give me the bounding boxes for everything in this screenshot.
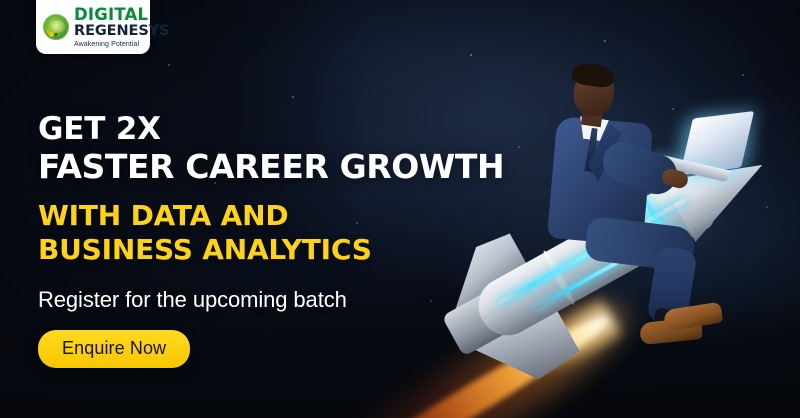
tree-emblem-icon <box>43 14 69 40</box>
promo-banner: DIGITAL REGENESYS Awakening Potential GE… <box>0 0 800 418</box>
brand-logo[interactable]: DIGITAL REGENESYS Awakening Potential <box>36 0 150 54</box>
logo-name-line1: DIGITAL <box>74 7 143 24</box>
enquire-now-button[interactable]: Enquire Now <box>38 330 190 368</box>
headline: GET 2X FASTER CAREER GROWTH <box>38 110 504 186</box>
headline-line-2: FASTER CAREER GROWTH <box>38 148 504 186</box>
logo-name-line2: REGENESYS <box>74 24 143 39</box>
subheadline-line-2: BUSINESS ANALYTICS <box>38 233 504 267</box>
subheadline-line-1: WITH DATA AND <box>38 199 504 233</box>
tagline-text: Register for the upcoming batch <box>38 287 504 313</box>
subheadline: WITH DATA AND BUSINESS ANALYTICS <box>38 199 504 267</box>
headline-line-1: GET 2X <box>38 110 504 148</box>
copy-block: GET 2X FASTER CAREER GROWTH WITH DATA AN… <box>38 110 504 368</box>
logo-tagline: Awakening Potential <box>74 41 143 48</box>
